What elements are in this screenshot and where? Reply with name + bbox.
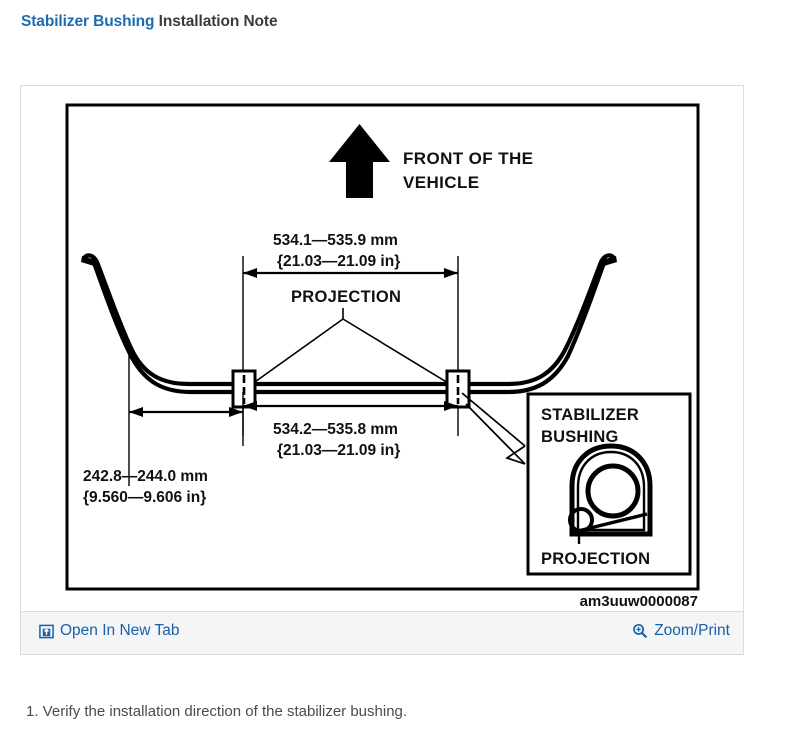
zoom-print-label: Zoom/Print [654, 622, 730, 640]
page-title-link-part[interactable]: Stabilizer Bushing [21, 13, 154, 30]
dimension-top-label-line1: 534.1—535.9 mm [273, 232, 398, 249]
front-of-vehicle-label-line2: VEHICLE [403, 173, 479, 192]
inset-title-line1: STABILIZER [541, 406, 639, 424]
technical-drawing[interactable]: FRONT OF THE VEHICLE 534.1—535.9 mm {21.… [21, 86, 745, 612]
bushing-left [233, 371, 255, 407]
stabilizer-bar-diagram: FRONT OF THE VEHICLE 534.1—535.9 mm {21.… [21, 86, 745, 612]
dimension-top-label-line2: {21.03—21.09 in} [277, 253, 400, 270]
figure-image-id: am3uuw0000087 [580, 593, 698, 610]
open-in-new-tab-label: Open In New Tab [60, 622, 179, 640]
page-title-plain-part: Installation Note [154, 13, 277, 30]
dimension-middle-label-line2: {21.03—21.09 in} [277, 442, 400, 459]
front-of-vehicle-label-line1: FRONT OF THE [403, 149, 533, 168]
projection-callout-label: PROJECTION [291, 288, 401, 306]
step-item: 1. Verify the installation direction of … [26, 703, 407, 720]
step-list: 1. Verify the installation direction of … [26, 703, 407, 720]
figure-card: FRONT OF THE VEHICLE 534.1—535.9 mm {21.… [20, 85, 744, 655]
dimension-left-label-line2: {9.560—9.606 in} [83, 489, 206, 506]
dimension-left-label-line1: 242.8—244.0 mm [83, 468, 208, 485]
inset-caption: PROJECTION [541, 550, 650, 568]
open-in-new-tab-button[interactable]: Open In New Tab [39, 622, 179, 640]
inset-title-line2: BUSHING [541, 428, 619, 446]
page-title: Stabilizer Bushing Installation Note [21, 13, 278, 31]
figure-toolbar: Open In New Tab Zoom/Print [21, 611, 743, 654]
zoom-print-button[interactable]: Zoom/Print [632, 622, 730, 640]
bushing-right [447, 371, 469, 407]
open-in-new-tab-icon [39, 624, 54, 639]
inset-detail-box: STABILIZER BUSHING PROJECTION [528, 394, 690, 574]
search-icon [632, 623, 648, 639]
dimension-middle-label-line1: 534.2—535.8 mm [273, 421, 398, 438]
